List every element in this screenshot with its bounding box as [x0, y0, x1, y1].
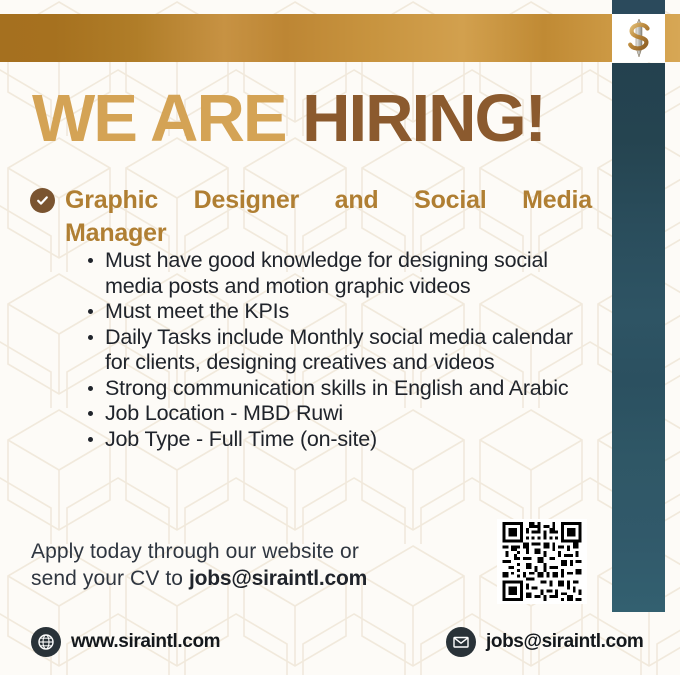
list-item: Strong communication skills in English a…	[86, 376, 598, 402]
headline-we-are: WE ARE	[32, 81, 302, 156]
list-item: Job Type - Full Time (on-site)	[86, 427, 598, 453]
apply-line-1: Apply today through our website or	[31, 540, 359, 563]
footer-website-text: www.siraintl.com	[71, 631, 220, 653]
footer-website[interactable]: www.siraintl.com	[31, 627, 220, 657]
list-item: Must have good knowledge for designing s…	[86, 248, 598, 299]
apply-instructions: Apply today through our website or send …	[31, 538, 451, 592]
envelope-icon	[446, 627, 476, 657]
right-teal-sidebar	[612, 63, 665, 612]
list-item: Daily Tasks include Monthly social media…	[86, 325, 598, 376]
list-item: Must meet the KPIs	[86, 299, 598, 325]
requirements-list: Must have good knowledge for designing s…	[86, 248, 598, 452]
sira-s-monogram-logo	[622, 18, 656, 58]
apply-email[interactable]: jobs@siraintl.com	[189, 567, 367, 590]
teal-accent-block-top	[612, 0, 665, 15]
top-gold-bar	[0, 14, 680, 62]
qr-code[interactable]	[497, 519, 587, 604]
apply-line-2-prefix: send your CV to	[31, 567, 189, 590]
list-item: Job Location - MBD Ruwi	[86, 401, 598, 427]
page-title: WE ARE HIRING!	[32, 82, 545, 156]
footer-email-text: jobs@siraintl.com	[486, 631, 643, 653]
job-title-line-1: Graphic Designer and Social Media	[65, 184, 592, 217]
check-circle-icon	[30, 188, 55, 213]
logo-container	[612, 14, 665, 62]
headline-hiring: HIRING!	[302, 81, 545, 156]
job-title-line-2: Manager	[65, 217, 592, 250]
hiring-poster: WE ARE HIRING! Graphic Designer and Soci…	[0, 0, 680, 675]
footer-email[interactable]: jobs@siraintl.com	[446, 627, 643, 657]
globe-icon	[31, 627, 61, 657]
